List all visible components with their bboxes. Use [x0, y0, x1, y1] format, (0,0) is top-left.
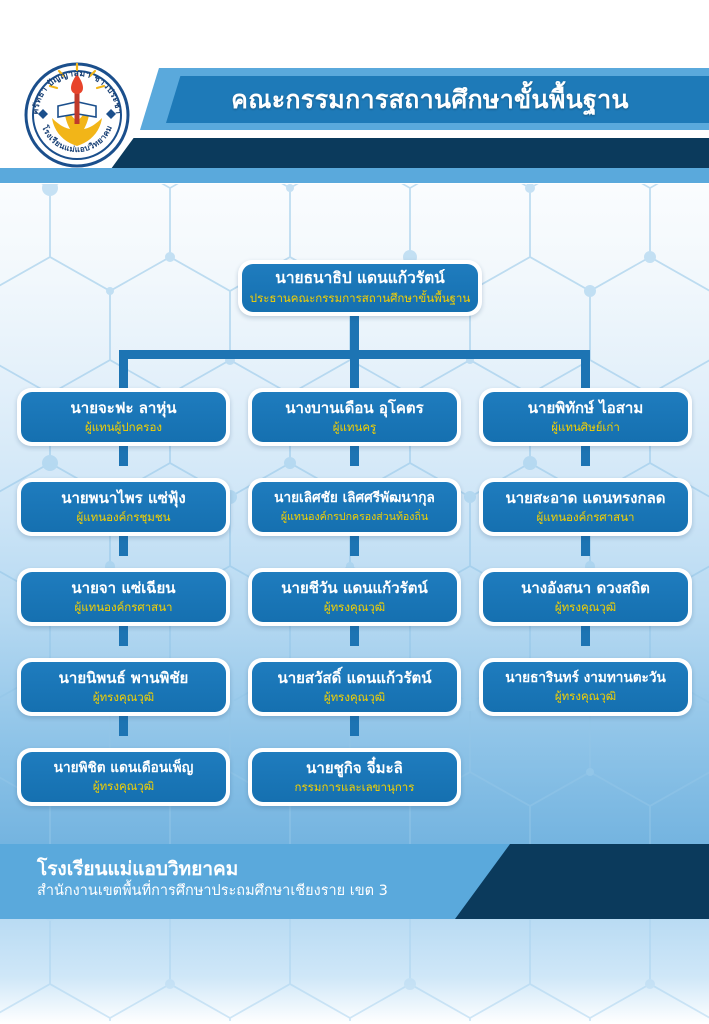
card-col1-row4[interactable]: นายนิพนธ์ พานพิชัย ผู้ทรงคุณวุฒิ — [17, 658, 230, 716]
header-bottom-strip — [0, 168, 709, 183]
connector-root-vertical — [350, 316, 359, 354]
card-name: นายธนาธิป แดนแก้วรัตน์ — [275, 270, 445, 288]
card-role: ผู้แทนครู — [333, 421, 376, 434]
card-role: ผู้ทรงคุณวุฒิ — [93, 691, 154, 704]
card-name: นายจา แซ่เฉียน — [71, 580, 175, 597]
card-name: นายชีวัน แดนแก้วรัตน์ — [281, 580, 427, 597]
card-role: ผู้แทนองค์กรปกครองส่วนท้องถิ่น — [281, 511, 428, 523]
card-col3-row2[interactable]: นายสะอาด แดนทรงกลด ผู้แทนองค์กรศาสนา — [479, 478, 692, 536]
card-role: ผู้ทรงคุณวุฒิ — [324, 691, 385, 704]
card-col3-row1[interactable]: นายพิทักษ์ ไอสาม ผู้แทนศิษย์เก่า — [479, 388, 692, 446]
footer-school-name: โรงเรียนแม่แอบวิทยาคม — [37, 858, 388, 882]
card-role: ผู้ทรงคุณวุฒิ — [555, 690, 616, 703]
connector-branch-col1 — [119, 350, 128, 388]
card-name: นายสะอาด แดนทรงกลด — [505, 490, 665, 507]
page-footer: โรงเรียนแม่แอบวิทยาคม สำนักงานเขตพื้นที่… — [0, 844, 709, 1024]
card-name: นางบานเดือน อุโคตร — [285, 400, 423, 417]
header-banner-navy — [109, 138, 709, 168]
card-name: นายนิพนธ์ พานพิชัย — [59, 670, 189, 687]
card-name: นายพิทักษ์ ไอสาม — [528, 400, 643, 417]
card-name: นายจะฟะ ลาหุ่น — [71, 400, 177, 417]
card-name: นายธารินทร์ งามทานตะวัน — [505, 671, 666, 687]
card-role: ประธานคณะกรรมการสถานศึกษาขั้นพื้นฐาน — [250, 292, 470, 305]
card-col1-row5[interactable]: นายพิชิต แดนเดือนเพ็ญ ผู้ทรงคุณวุฒิ — [17, 748, 230, 806]
card-col2-row5[interactable]: นายชูกิจ จี๋มะลิ กรรมการและเลขานุการ — [248, 748, 461, 806]
card-name: นายพนาไพร แซ่ฟุ้ง — [61, 490, 186, 507]
card-col2-row1[interactable]: นางบานเดือน อุโคตร ผู้แทนครู — [248, 388, 461, 446]
org-chart: นายธนาธิป แดนแก้วรัตน์ ประธานคณะกรรมการส… — [0, 184, 709, 844]
card-col3-row4[interactable]: นายธารินทร์ งามทานตะวัน ผู้ทรงคุณวุฒิ — [479, 658, 692, 716]
card-role: ผู้แทนองค์กรศาสนา — [536, 511, 634, 524]
card-chairman[interactable]: นายธนาธิป แดนแก้วรัตน์ ประธานคณะกรรมการส… — [238, 260, 482, 316]
card-role: ผู้แทนศิษย์เก่า — [551, 421, 620, 434]
card-col1-row2[interactable]: นายพนาไพร แซ่ฟุ้ง ผู้แทนองค์กรชุมชน — [17, 478, 230, 536]
connector-branch-col2 — [350, 350, 359, 388]
card-name: นายชูกิจ จี๋มะลิ — [306, 760, 403, 777]
card-col2-row4[interactable]: นายสวัสดิ์ แดนแก้วรัตน์ ผู้ทรงคุณวุฒิ — [248, 658, 461, 716]
page-header: คณะกรรมการสถานศึกษาขั้นพื้นฐาน — [0, 0, 709, 183]
card-name: นายเลิศชัย เลิศศรีพัฒนากุล — [274, 491, 435, 507]
page-title: คณะกรรมการสถานศึกษาขั้นพื้นฐาน — [160, 78, 700, 122]
card-col1-row3[interactable]: นายจา แซ่เฉียน ผู้แทนองค์กรศาสนา — [17, 568, 230, 626]
card-role: ผู้ทรงคุณวุฒิ — [324, 601, 385, 614]
connector-branch-col3 — [581, 350, 590, 388]
school-emblem-icon: ศรัทธา ปัญญาสมา ชาวประชา โรงเรียนแม่แอบว… — [24, 62, 130, 168]
card-role: ผู้ทรงคุณวุฒิ — [93, 780, 154, 793]
card-name: นางอังสนา ดวงสถิต — [521, 580, 650, 597]
card-role: ผู้ทรงคุณวุฒิ — [555, 601, 616, 614]
card-col1-row1[interactable]: นายจะฟะ ลาหุ่น ผู้แทนผู้ปกครอง — [17, 388, 230, 446]
org-chart-poster: นายธนาธิป แดนแก้วรัตน์ ประธานคณะกรรมการส… — [0, 0, 709, 1024]
footer-bottom-gradient — [0, 919, 709, 1024]
card-col2-row3[interactable]: นายชีวัน แดนแก้วรัตน์ ผู้ทรงคุณวุฒิ — [248, 568, 461, 626]
footer-text: โรงเรียนแม่แอบวิทยาคม สำนักงานเขตพื้นที่… — [37, 858, 388, 901]
card-name: นายสวัสดิ์ แดนแก้วรัตน์ — [277, 670, 431, 687]
card-role: กรรมการและเลขานุการ — [295, 781, 415, 794]
card-col2-row2[interactable]: นายเลิศชัย เลิศศรีพัฒนากุล ผู้แทนองค์กรป… — [248, 478, 461, 536]
footer-hexagon-pattern — [0, 919, 709, 1021]
card-name: นายพิชิต แดนเดือนเพ็ญ — [54, 761, 194, 777]
card-role: ผู้แทนองค์กรชุมชน — [77, 511, 171, 524]
card-role: ผู้แทนองค์กรศาสนา — [74, 601, 172, 614]
card-role: ผู้แทนผู้ปกครอง — [85, 421, 162, 434]
card-col3-row3[interactable]: นางอังสนา ดวงสถิต ผู้ทรงคุณวุฒิ — [479, 568, 692, 626]
footer-office-name: สำนักงานเขตพื้นที่การศึกษาประถมศึกษาเชีย… — [37, 882, 388, 901]
